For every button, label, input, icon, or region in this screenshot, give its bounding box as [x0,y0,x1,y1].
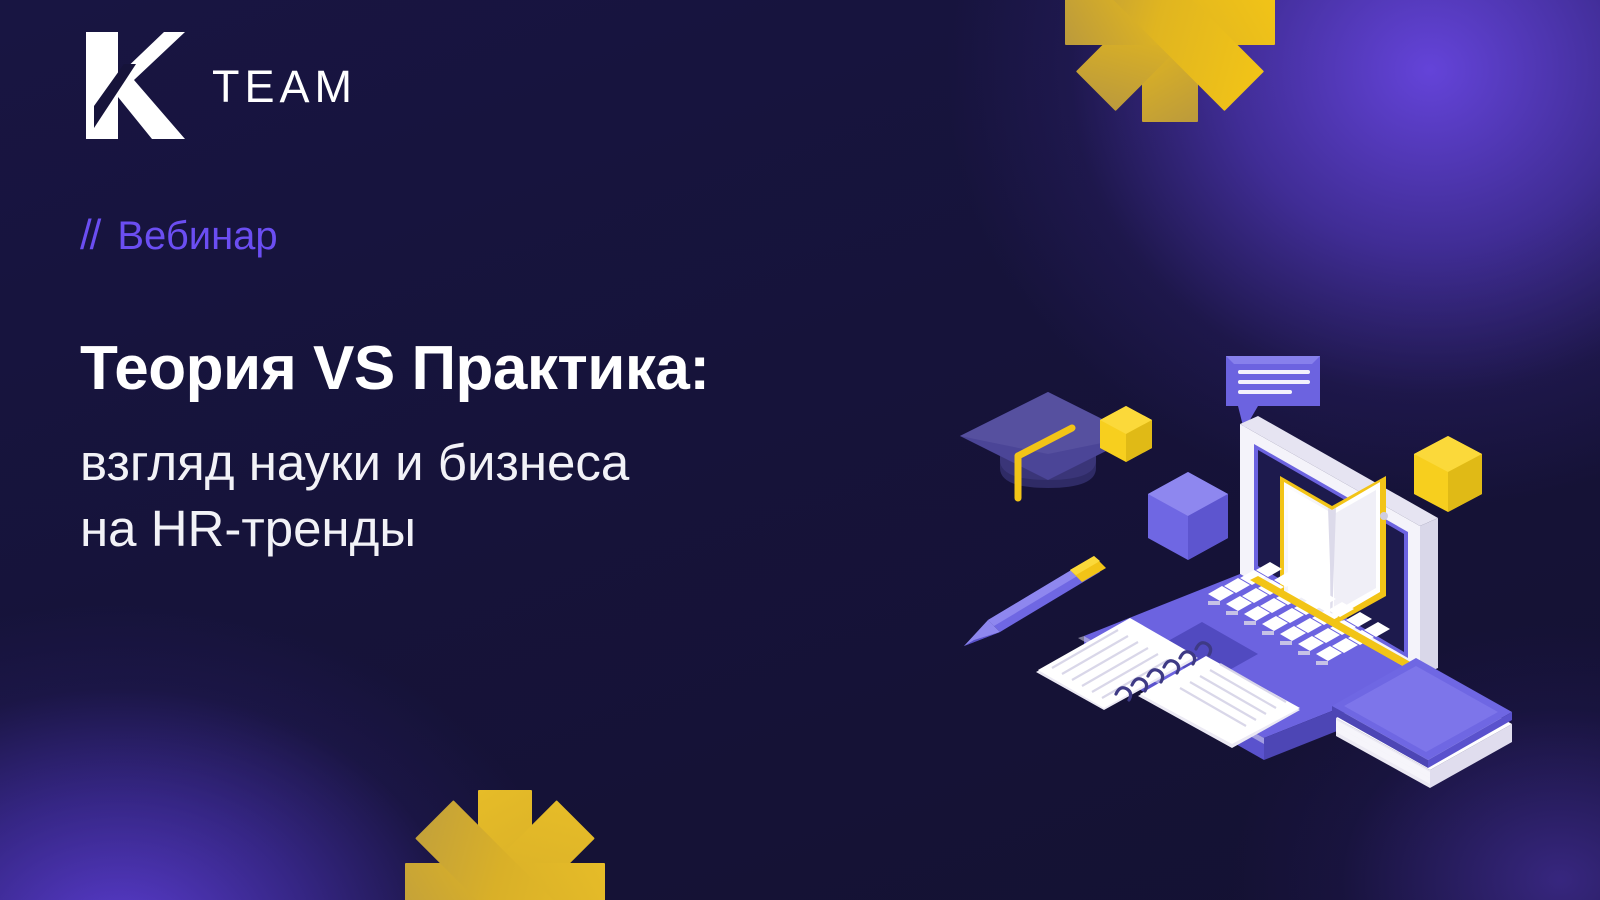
page-subtitle-line-2: на HR-тренды [80,496,629,562]
k-monogram-icon [78,28,186,140]
page-subtitle: взгляд науки и бизнеса на HR-тренды [80,430,629,563]
brand-wordmark: TEAM [212,60,357,109]
pencil-icon [964,556,1106,646]
slide-content: TEAM // Вебинар Теория VS Практика: взгл… [0,0,1600,900]
page-title: Теория VS Практика: [80,337,710,400]
brand-logo: TEAM [78,28,357,140]
eyebrow-label: // Вебинар [80,214,278,256]
page-subtitle-line-1: взгляд науки и бизнеса [80,430,629,496]
yellow-cube-large-icon [1414,436,1482,512]
yellow-cube-small-icon [1100,406,1152,462]
eyebrow-text: Вебинар [117,216,277,256]
eyebrow-slashes: // [80,214,99,256]
isometric-elearning-illustration [940,320,1520,790]
purple-cube-icon [1148,472,1228,560]
speech-bubble-icon [1226,356,1320,430]
